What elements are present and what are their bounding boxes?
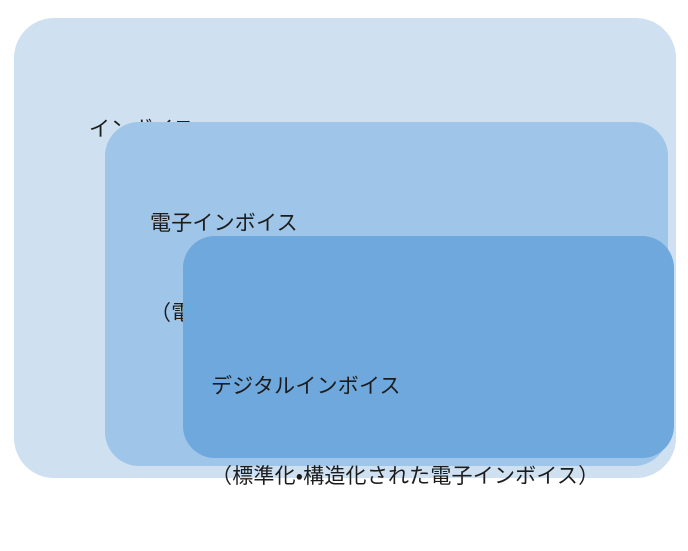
layer-digital-invoice-label-secondary: （標準化・構造化された電子インボイス） (211, 461, 599, 491)
layer-digital-invoice: デジタルインボイス （標準化・構造化された電子インボイス） (183, 236, 674, 458)
layer-electronic-invoice: 電子インボイス （電子化された適格請求書） デジタルインボイス （標準化・構造化… (105, 122, 668, 466)
layer-electronic-invoice-label-primary: 電子インボイス (150, 208, 426, 238)
layer-digital-invoice-label-primary: デジタルインボイス (211, 371, 599, 401)
diagram-canvas: インボイス 電子インボイス （電子化された適格請求書） デジタルインボイス （標… (0, 0, 688, 492)
layer-digital-invoice-label: デジタルインボイス （標準化・構造化された電子インボイス） (211, 311, 599, 551)
layer-invoice: インボイス 電子インボイス （電子化された適格請求書） デジタルインボイス （標… (14, 18, 676, 478)
